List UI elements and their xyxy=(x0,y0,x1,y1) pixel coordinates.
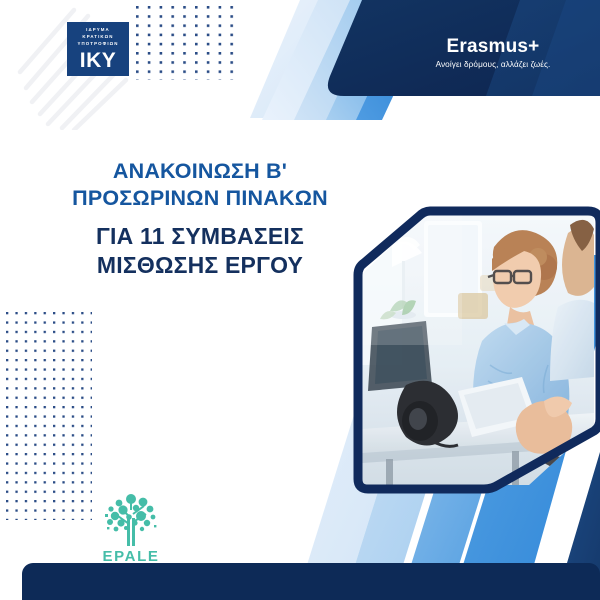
erasmus-logo: Erasmus+ Ανοίγει δρόμους, αλλάζει ζωές. xyxy=(398,36,588,71)
iky-logo-line-3: ΥΠΟΤΡΟΦΙΩΝ xyxy=(77,41,118,47)
erasmus-tagline: Ανοίγει δρόμους, αλλάζει ζωές. xyxy=(398,59,588,71)
announcement-subtitle-line-2: ΜΙΣΘΩΣΗΣ ΕΡΓΟΥ xyxy=(20,251,380,280)
hexagon-photo xyxy=(352,205,600,495)
dot-grid-left-decoration xyxy=(6,312,92,520)
erasmus-name: Erasmus+ xyxy=(398,36,588,58)
iky-logo-line-2: ΚΡΑΤΙΚΩΝ xyxy=(82,34,113,40)
poster-canvas: ΙΔΡΥΜΑ ΚΡΑΤΙΚΩΝ ΥΠΟΤΡΟΦΙΩΝ IKY Erasmus+ … xyxy=(0,0,600,600)
iky-logo-acronym: IKY xyxy=(80,50,117,71)
announcement-title-line-2: ΠΡΟΣΩΡΙΝΩΝ ΠΙΝΑΚΩΝ xyxy=(20,185,380,212)
iky-logo-line-1: ΙΔΡΥΜΑ xyxy=(86,27,110,33)
epale-tree-icon xyxy=(102,492,160,548)
announcement-subtitle-line-1: ΓΙΑ 11 ΣΥΜΒΑΣΕΙΣ xyxy=(20,222,380,251)
iky-logo: ΙΔΡΥΜΑ ΚΡΑΤΙΚΩΝ ΥΠΟΤΡΟΦΙΩΝ IKY xyxy=(68,23,128,75)
epale-logo: EPALE Ελλάδα xyxy=(92,492,170,573)
announcement-title: ΑΝΑΚΟΙΝΩΣΗ Β' ΠΡΟΣΩΡΙΝΩΝ ΠΙΝΑΚΩΝ xyxy=(20,158,380,212)
announcement-subtitle: ΓΙΑ 11 ΣΥΜΒΑΣΕΙΣ ΜΙΣΘΩΣΗΣ ΕΡΓΟΥ xyxy=(20,222,380,280)
hexagon-frame xyxy=(352,205,600,495)
dot-grid-top-decoration xyxy=(136,6,242,80)
announcement-title-line-1: ΑΝΑΚΟΙΝΩΣΗ Β' xyxy=(20,158,380,185)
bottom-bar xyxy=(22,563,600,600)
